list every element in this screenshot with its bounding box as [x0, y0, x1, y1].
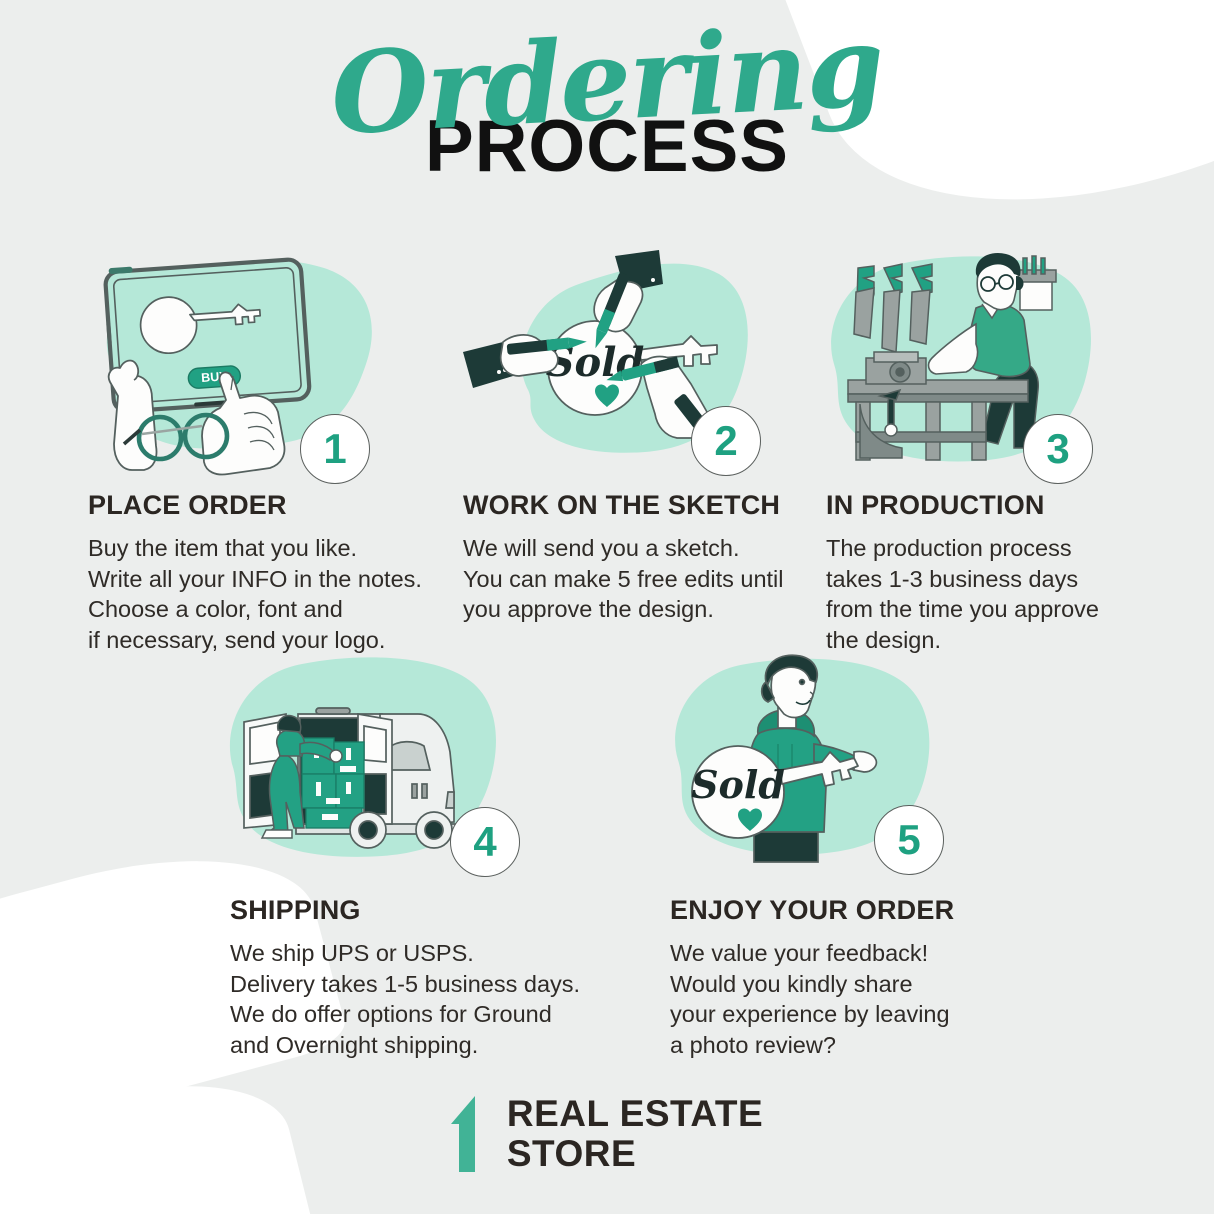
step-4-heading: SHIPPING: [230, 895, 582, 926]
craftsman-table-saw-workshop-illustration: [816, 248, 1146, 478]
step-card-5: Sold 5 ENJOY YOUR ORDER We value your fe…: [662, 652, 1022, 1060]
key-script-label-5: Sold: [691, 762, 785, 807]
step-5-number-badge: 5: [874, 805, 944, 875]
step-card-4: 4 SHIPPING We ship UPS or USPS. Delivery…: [222, 652, 582, 1060]
brushstroke-bottom-left-accent: [0, 919, 197, 1042]
step-5-heading: ENJOY YOUR ORDER: [670, 895, 1022, 926]
step-1-body: Buy the item that you like. Write all yo…: [88, 533, 435, 655]
brand-name: REAL ESTATE STORE: [507, 1094, 763, 1174]
step-2-number-badge: 2: [691, 406, 761, 476]
step-card-3: 3 IN PRODUCTION The production process t…: [816, 248, 1167, 655]
step-3-illustration: 3: [816, 248, 1146, 478]
step-1-illustration: BUY: [84, 248, 414, 478]
steps-row-top: BUY: [72, 248, 1167, 655]
step-5-body: We value your feedback! Would you kindly…: [670, 938, 1022, 1060]
step-5-illustration: Sold 5: [662, 652, 992, 877]
step-card-2: Sold: [455, 248, 806, 655]
step-1-number-badge: 1: [300, 414, 370, 484]
step-card-1: BUY: [84, 248, 435, 655]
footer-logo: REAL ESTATE STORE: [0, 1094, 1214, 1174]
step-4-body: We ship UPS or USPS. Delivery takes 1-5 …: [230, 938, 582, 1060]
steps-row-bottom: 4 SHIPPING We ship UPS or USPS. Delivery…: [222, 652, 1022, 1060]
step-3-number-badge: 3: [1023, 414, 1093, 484]
step-2-body: We will send you a sketch. You can make …: [463, 533, 806, 625]
step-2-heading: WORK ON THE SKETCH: [463, 490, 806, 521]
step-3-body: The production process takes 1-3 busines…: [826, 533, 1167, 655]
step-1-heading: PLACE ORDER: [88, 490, 435, 521]
step-2-illustration: Sold: [455, 248, 785, 478]
house-arrow-logo-icon: [451, 1096, 491, 1172]
page-header: Ordering PROCESS: [0, 28, 1214, 180]
page-title-script: Ordering: [329, 14, 885, 149]
step-4-number-badge: 4: [450, 807, 520, 877]
step-3-heading: IN PRODUCTION: [826, 490, 1167, 521]
step-4-illustration: 4: [222, 652, 552, 877]
